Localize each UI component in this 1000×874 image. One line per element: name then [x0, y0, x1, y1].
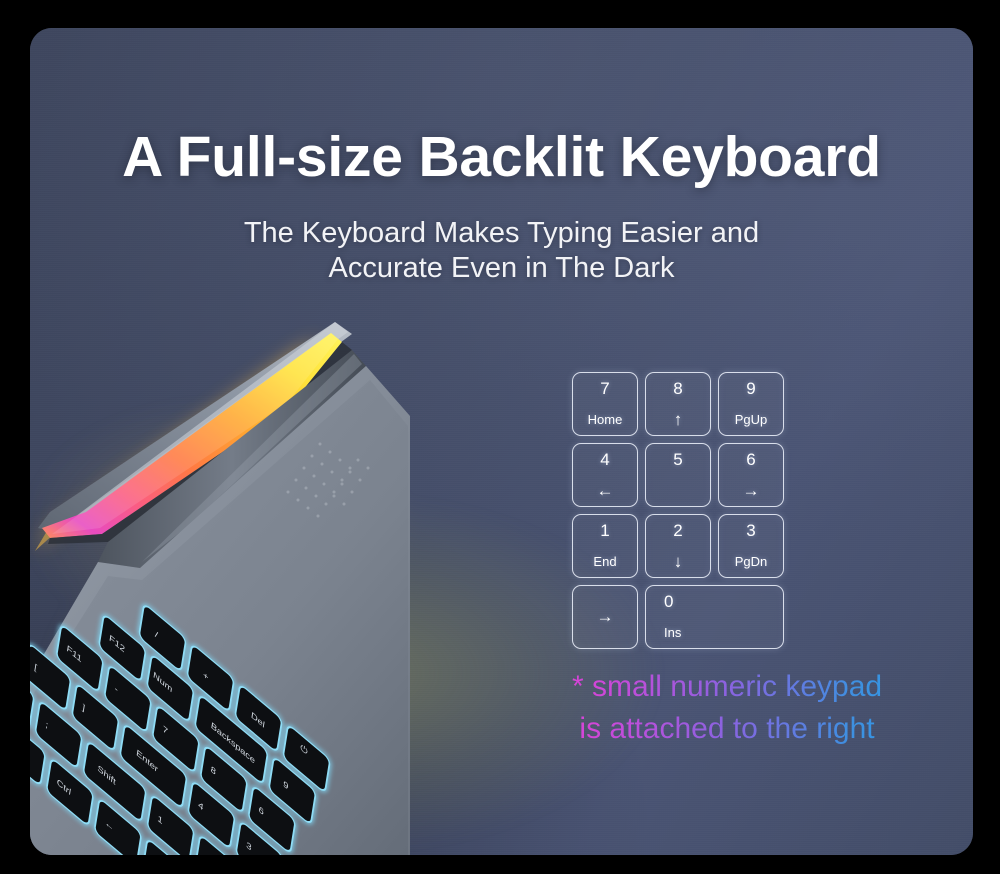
- key-sub-label: End: [593, 555, 616, 569]
- key-main-label: 2: [673, 522, 682, 540]
- arrow-left-icon: ←: [597, 484, 614, 498]
- caption-line-1: * small numeric keypad: [492, 666, 962, 708]
- caption-line-2: is attached to the right: [492, 708, 962, 750]
- arrow-right-icon: →: [597, 610, 614, 624]
- subtitle-line-2: Accurate Even in The Dark: [30, 251, 973, 286]
- key-sub-label: PgDn: [735, 555, 768, 569]
- arrow-down-icon: ↓: [674, 555, 683, 569]
- key-sub-label: PgUp: [735, 413, 768, 427]
- keypad-key-6-right[interactable]: 6 →: [718, 443, 784, 507]
- keypad-key-7-home[interactable]: 7 Home: [572, 372, 638, 436]
- key-main-label: 4: [600, 451, 609, 469]
- key-main-label: 8: [673, 380, 682, 398]
- numeric-keypad-diagram: 7 Home 8 ↑ 9 PgUp 4 ← 5 6 →: [572, 372, 792, 664]
- keypad-key-0-ins[interactable]: 0 Ins: [645, 585, 784, 649]
- key-main-label: 6: [746, 451, 755, 469]
- keypad-key-5[interactable]: 5: [645, 443, 711, 507]
- arrow-right-icon: →: [743, 484, 760, 498]
- key-main-label: 5: [673, 451, 682, 469]
- keypad-key-9-pgup[interactable]: 9 PgUp: [718, 372, 784, 436]
- key-main-label: 7: [600, 380, 609, 398]
- key-main-label: 3: [746, 522, 755, 540]
- key-main-label: 9: [746, 380, 755, 398]
- keypad-key-3-pgdn[interactable]: 3 PgDn: [718, 514, 784, 578]
- keypad-key-right-arrow[interactable]: →: [572, 585, 638, 649]
- keypad-key-8-up[interactable]: 8 ↑: [645, 372, 711, 436]
- keypad-key-4-left[interactable]: 4 ←: [572, 443, 638, 507]
- page-subtitle: The Keyboard Makes Typing Easier and Acc…: [30, 216, 973, 286]
- key-sub-label: Home: [588, 413, 623, 427]
- keypad-key-2-down[interactable]: 2 ↓: [645, 514, 711, 578]
- keypad-caption: * small numeric keypad is attached to th…: [492, 666, 962, 750]
- page-title: A Full-size Backlit Keyboard: [30, 128, 973, 188]
- key-sub-label: Ins: [664, 626, 681, 640]
- laptop-illustration: ⏻ Del / + F12 Num Backspace 9 F11 - 7 8 …: [30, 276, 410, 855]
- key-main-label: 1: [600, 522, 609, 540]
- promo-frame: A Full-size Backlit Keyboard The Keyboar…: [0, 0, 1000, 874]
- keypad-key-1-end[interactable]: 1 End: [572, 514, 638, 578]
- arrow-up-icon: ↑: [674, 413, 683, 427]
- promo-card: A Full-size Backlit Keyboard The Keyboar…: [30, 28, 973, 855]
- key-main-label: 0: [664, 593, 673, 611]
- subtitle-line-1: The Keyboard Makes Typing Easier and: [30, 216, 973, 251]
